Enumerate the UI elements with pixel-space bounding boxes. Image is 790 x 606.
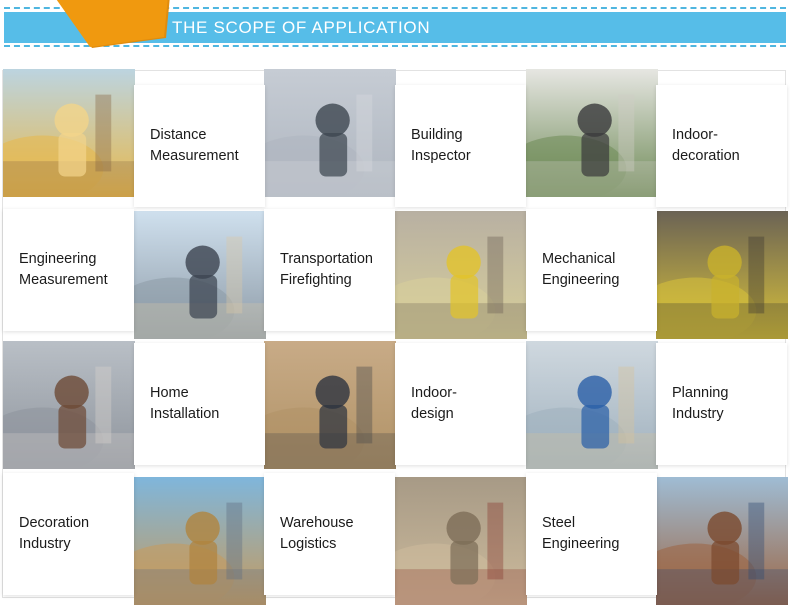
- photo-image: [656, 477, 788, 605]
- photo-image: [134, 211, 266, 339]
- label-mechanical-engineering: Mechanical Engineering: [526, 209, 657, 331]
- photo-framing-timber-house[interactable]: [134, 477, 266, 605]
- photo-inspector-at-window[interactable]: [526, 69, 658, 197]
- label-planning-industry: Planning Industry: [656, 343, 787, 465]
- label-home-installation: Home Installation: [134, 343, 265, 465]
- cell-label: Steel Engineering: [542, 513, 619, 554]
- cell-label: Home Installation: [150, 383, 219, 424]
- page-header: THE SCOPE OF APPLICATION: [0, 0, 790, 62]
- photo-yellow-machinery-container[interactable]: [656, 211, 788, 339]
- photo-steel-frame-worker[interactable]: [526, 341, 658, 469]
- photo-showroom-laser-measure[interactable]: [3, 341, 135, 469]
- photo-carpenter-yellow-helmet[interactable]: [3, 69, 135, 197]
- photo-image: [134, 477, 266, 605]
- label-indoor-decoration: Indoor- decoration: [656, 85, 787, 207]
- photo-image: [526, 69, 658, 197]
- photo-image: [264, 69, 396, 197]
- label-building-inspector: Building Inspector: [395, 85, 526, 207]
- photo-image: [395, 477, 527, 605]
- page-title: THE SCOPE OF APPLICATION: [172, 12, 430, 43]
- photo-surveyor-with-tripod[interactable]: [134, 211, 266, 339]
- photo-image: [395, 211, 527, 339]
- cell-label: Warehouse Logistics: [280, 513, 354, 554]
- label-warehouse-logistics: Warehouse Logistics: [264, 473, 395, 595]
- photo-worker-with-rangefinder-product[interactable]: [264, 341, 396, 469]
- cell-label: Planning Industry: [672, 383, 728, 424]
- photo-firefighting-drill[interactable]: [395, 211, 527, 339]
- photo-steel-dome-construction[interactable]: [656, 477, 788, 605]
- label-steel-engineering: Steel Engineering: [526, 473, 657, 595]
- label-decoration-industry: Decoration Industry: [3, 473, 134, 595]
- cell-label: Transportation Firefighting: [280, 249, 373, 290]
- cell-label: Engineering Measurement: [19, 249, 108, 290]
- cell-label: Decoration Industry: [19, 513, 89, 554]
- cell-label: Indoor- decoration: [672, 125, 740, 166]
- photo-image: [526, 341, 658, 469]
- cell-label: Mechanical Engineering: [542, 249, 619, 290]
- photo-image: [264, 341, 396, 469]
- label-distance-measurement: Distance Measurement: [134, 85, 265, 207]
- photo-warehouse-shelving[interactable]: [395, 477, 527, 605]
- application-scope-page: THE SCOPE OF APPLICATION Distance Measur…: [0, 0, 790, 606]
- label-indoor-design: Indoor- design: [395, 343, 526, 465]
- photo-measuring-wall-height[interactable]: [264, 69, 396, 197]
- photo-image: [3, 341, 135, 469]
- label-transportation-firefighting: Transportation Firefighting: [264, 209, 395, 331]
- cell-label: Distance Measurement: [150, 125, 239, 166]
- scope-grid: Distance Measurement Building Inspector …: [3, 71, 787, 599]
- cell-label: Indoor- design: [411, 383, 457, 424]
- cell-label: Building Inspector: [411, 125, 471, 166]
- orange-quadrilateral-icon: [18, 0, 170, 48]
- photo-image: [656, 211, 788, 339]
- scope-grid-frame: Distance Measurement Building Inspector …: [2, 70, 786, 598]
- photo-image: [3, 69, 135, 197]
- label-engineering-measurement: Engineering Measurement: [3, 209, 134, 331]
